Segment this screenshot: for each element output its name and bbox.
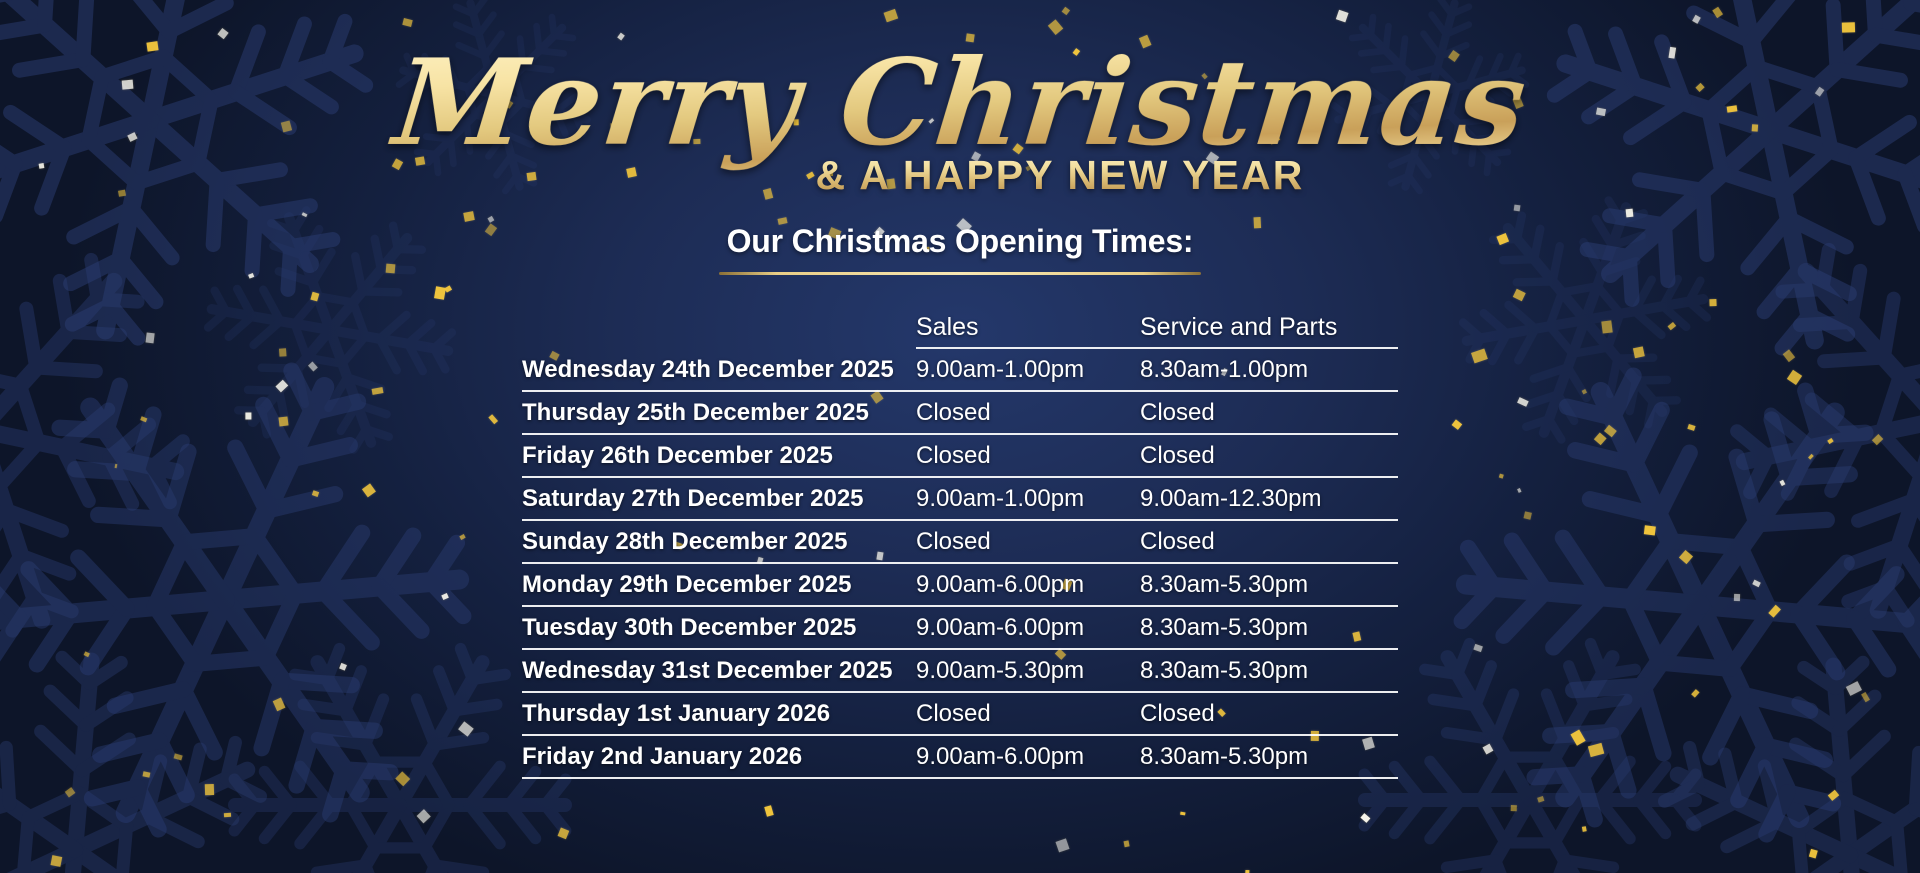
- table-body: Wednesday 24th December 20259.00am-1.00p…: [522, 348, 1398, 778]
- row-sales-hours: 9.00am-6.00pm: [916, 606, 1140, 649]
- row-service-hours: 8.30am-1.00pm: [1140, 348, 1398, 391]
- table-row: Monday 29th December 20259.00am-6.00pm8.…: [522, 563, 1398, 606]
- table-header-row: Sales Service and Parts: [522, 305, 1398, 348]
- row-day-label: Tuesday 30th December 2025: [522, 606, 916, 649]
- table-row: Wednesday 31st December 20259.00am-5.30p…: [522, 649, 1398, 692]
- table-head: Sales Service and Parts: [522, 305, 1398, 348]
- row-service-hours: 9.00am-12.30pm: [1140, 477, 1398, 520]
- opening-times-table: Sales Service and Parts Wednesday 24th D…: [522, 305, 1398, 779]
- subheadline-happy-new-year: & A HAPPY NEW YEAR: [816, 152, 1305, 199]
- row-service-hours: 8.30am-5.30pm: [1140, 735, 1398, 778]
- row-day-label: Friday 2nd January 2026: [522, 735, 916, 778]
- row-service-hours: 8.30am-5.30pm: [1140, 649, 1398, 692]
- table-row: Sunday 28th December 2025ClosedClosed: [522, 520, 1398, 563]
- row-service-hours: Closed: [1140, 434, 1398, 477]
- table-row: Tuesday 30th December 20259.00am-6.00pm8…: [522, 606, 1398, 649]
- row-service-hours: Closed: [1140, 391, 1398, 434]
- table-row: Thursday 25th December 2025ClosedClosed: [522, 391, 1398, 434]
- row-sales-hours: Closed: [916, 434, 1140, 477]
- row-day-label: Thursday 1st January 2026: [522, 692, 916, 735]
- row-day-label: Wednesday 31st December 2025: [522, 649, 916, 692]
- row-service-hours: Closed: [1140, 520, 1398, 563]
- table-row: Saturday 27th December 20259.00am-1.00pm…: [522, 477, 1398, 520]
- row-day-label: Saturday 27th December 2025: [522, 477, 916, 520]
- column-header-day: [522, 305, 916, 348]
- row-day-label: Monday 29th December 2025: [522, 563, 916, 606]
- christmas-opening-times-banner: Merry Christmas & A HAPPY NEW YEAR Our C…: [0, 0, 1920, 873]
- row-sales-hours: 9.00am-1.00pm: [916, 348, 1140, 391]
- row-sales-hours: Closed: [916, 520, 1140, 563]
- row-sales-hours: 9.00am-1.00pm: [916, 477, 1140, 520]
- row-service-hours: 8.30am-5.30pm: [1140, 606, 1398, 649]
- row-service-hours: Closed: [1140, 692, 1398, 735]
- section-title-opening-times: Our Christmas Opening Times:: [727, 223, 1194, 260]
- row-day-label: Sunday 28th December 2025: [522, 520, 916, 563]
- row-sales-hours: 9.00am-5.30pm: [916, 649, 1140, 692]
- column-header-service-and-parts: Service and Parts: [1140, 305, 1398, 348]
- table-row: Friday 2nd January 20269.00am-6.00pm8.30…: [522, 735, 1398, 778]
- row-day-label: Friday 26th December 2025: [522, 434, 916, 477]
- row-day-label: Wednesday 24th December 2025: [522, 348, 916, 391]
- column-header-sales: Sales: [916, 305, 1140, 348]
- row-sales-hours: 9.00am-6.00pm: [916, 563, 1140, 606]
- row-sales-hours: 9.00am-6.00pm: [916, 735, 1140, 778]
- table-row: Friday 26th December 2025ClosedClosed: [522, 434, 1398, 477]
- row-day-label: Thursday 25th December 2025: [522, 391, 916, 434]
- row-sales-hours: Closed: [916, 391, 1140, 434]
- row-sales-hours: Closed: [916, 692, 1140, 735]
- table-row: Wednesday 24th December 20259.00am-1.00p…: [522, 348, 1398, 391]
- row-service-hours: 8.30am-5.30pm: [1140, 563, 1398, 606]
- table-row: Thursday 1st January 2026ClosedClosed: [522, 692, 1398, 735]
- banner-content: Merry Christmas & A HAPPY NEW YEAR Our C…: [0, 0, 1920, 873]
- gold-divider-rule: [719, 272, 1201, 275]
